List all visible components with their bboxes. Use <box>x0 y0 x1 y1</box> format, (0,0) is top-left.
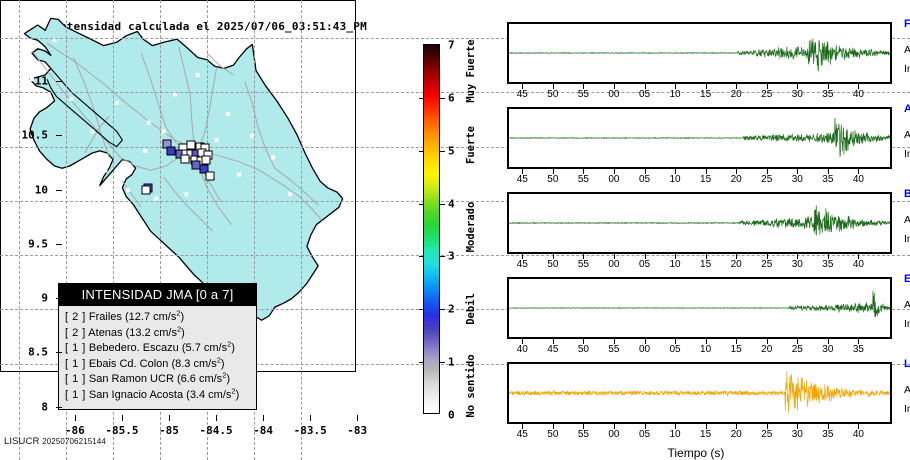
waveform-tick-label: 30 <box>792 429 803 440</box>
waveform-jma-intensity: Int JMA: 2 <box>904 63 910 75</box>
waveform-tick-label: 40 <box>853 429 864 440</box>
waveform-plot <box>507 277 892 339</box>
map-x-tick-label: -83 <box>347 424 367 437</box>
waveform-tick-label: 45 <box>517 429 528 440</box>
waveform-tick-label: 40 <box>853 259 864 270</box>
waveform-tick-label: 20 <box>761 344 772 355</box>
legend-station-name: Atenas <box>88 327 122 339</box>
legend-station-row: [ 1 ] San Ignacio Acosta (3.4 cm/s2) <box>65 388 256 404</box>
waveform-tick-label: 20 <box>731 89 742 100</box>
waveform-panel[interactable]: 455055000510152025303540FrailesAcel. Max… <box>507 22 892 84</box>
colorbar-category-label: Muy Fuerte <box>465 40 477 103</box>
legend-level: [ 1 ] <box>65 358 86 370</box>
waveform-tick-label: 55 <box>578 174 589 185</box>
colorbar-tick-mark <box>439 309 445 310</box>
waveform-panel[interactable]: 404550550005101520253035Ebais Cd. ColonA… <box>507 277 892 339</box>
map-x-tick-mark <box>122 415 123 421</box>
legend-accel: (3.4 cm/s2) <box>186 389 239 401</box>
map-y-tick-label: 8.5 <box>0 346 48 359</box>
footer-org: LISUCR <box>4 436 39 447</box>
map-x-tick-label: -84 <box>253 424 273 437</box>
map-x-tick-mark <box>357 415 358 421</box>
legend-station-name: San Ramon UCR <box>89 373 174 385</box>
colorbar-category-label: Moderado <box>465 202 477 253</box>
map-y-tick-label: 10.5 <box>0 129 48 142</box>
map-station-marker[interactable] <box>141 185 150 194</box>
waveform-tick-label: 30 <box>792 259 803 270</box>
waveform-tick-label: 15 <box>700 89 711 100</box>
map-x-tick-mark <box>216 415 217 421</box>
waveform-tick-label: 10 <box>669 259 680 270</box>
map-station-marker[interactable] <box>205 171 214 180</box>
colorbar-tick-mark-inner <box>419 204 424 205</box>
waveform-tick-label: 30 <box>792 174 803 185</box>
waveform-station-name[interactable]: Atenas <box>904 103 910 115</box>
waveform-tick-label: 00 <box>608 174 619 185</box>
legend-station-name: Frailes <box>89 311 122 323</box>
waveform-xaxis-label: Tiempo (s) <box>668 446 725 460</box>
map-x-tick-label: -85.5 <box>105 424 138 437</box>
waveform-jma-intensity: Int JMA: 1 <box>904 233 910 245</box>
map-station-marker[interactable] <box>202 156 211 165</box>
waveform-tick-label: 25 <box>761 259 772 270</box>
waveform-tick-label: 45 <box>547 344 558 355</box>
waveform-tick-label: 15 <box>700 259 711 270</box>
waveform-tick-label: 35 <box>822 429 833 440</box>
legend-level: [ 1 ] <box>65 373 86 385</box>
colorbar-tick-mark <box>439 362 445 363</box>
waveform-station-name[interactable]: Bebedero, Escazu <box>904 188 910 200</box>
map-y-tick-mark <box>56 407 62 408</box>
waveform-tick-label: 55 <box>578 89 589 100</box>
waveform-accel-max: Acel. Max. 1.5 <box>904 129 910 141</box>
colorbar-tick-mark <box>439 98 445 99</box>
colorbar-category-label: No sentido <box>465 354 477 417</box>
waveform-tick-label: 35 <box>822 174 833 185</box>
legend-accel: (8.3 cm/s2) <box>171 358 224 370</box>
waveform-tick-label: 20 <box>731 259 742 270</box>
waveform-tick-label: 30 <box>792 89 803 100</box>
map-y-tick-label: 9 <box>0 292 48 305</box>
waveform-tick-label: 45 <box>517 259 528 270</box>
waveform-jma-intensity: Int JMA: 1 <box>904 318 910 330</box>
waveform-tick-label: 05 <box>639 89 650 100</box>
legend-level: [ 2 ] <box>65 327 86 339</box>
legend-level: [ 1 ] <box>65 389 86 401</box>
map-gridline-horizontal <box>0 92 356 93</box>
legend-title: INTENSIDAD JMA [0 a 7] <box>59 284 256 306</box>
map-y-tick-mark <box>56 81 62 82</box>
waveform-plot <box>507 107 892 169</box>
waveform-plot <box>507 192 892 254</box>
legend-station-name: Bebedero. Escazu <box>89 342 179 354</box>
map-gridline-vertical <box>301 0 302 372</box>
waveform-tick-label: 00 <box>608 259 619 270</box>
waveform-tick-label: 30 <box>822 344 833 355</box>
waveform-tick-label: 00 <box>608 429 619 440</box>
waveform-tick-label: 35 <box>853 344 864 355</box>
colorbar-tick-mark-inner <box>419 309 424 310</box>
waveform-tick-label: 50 <box>578 344 589 355</box>
legend-station-name: San Ignacio Acosta <box>89 389 183 401</box>
waveform-tick-label: 50 <box>547 429 558 440</box>
waveform-tick-label: 15 <box>731 344 742 355</box>
map-station-marker[interactable] <box>180 154 189 163</box>
map-y-tick-label: 9.5 <box>0 237 48 250</box>
map-x-tick-mark <box>310 415 311 421</box>
waveform-accel-max: Acel. Max. 1.5 <box>904 44 910 56</box>
colorbar-tick-mark <box>439 151 445 152</box>
waveform-accel-max: Acel. Max. 1.3 <box>904 214 910 226</box>
map-y-tick-mark <box>56 244 62 245</box>
waveform-tick-label: 40 <box>853 174 864 185</box>
legend-station-row: [ 1 ] Bebedero. Escazu (5.7 cm/s2) <box>65 341 256 357</box>
waveform-tick-label: 45 <box>517 89 528 100</box>
map-y-tick-mark <box>56 352 62 353</box>
waveform-tick-label: 25 <box>792 344 803 355</box>
colorbar-tick-mark-inner <box>419 151 424 152</box>
waveform-tick-label: 55 <box>578 259 589 270</box>
intensity-colorbar: 01234567No sentidoDebilModeradoFuerteMuy… <box>423 44 440 414</box>
waveform-jma-intensity: Int JMA: 1 <box>904 403 910 415</box>
waveform-tick-label: 25 <box>761 89 772 100</box>
map-x-tick-mark <box>169 415 170 421</box>
waveform-tick-label: 05 <box>639 429 650 440</box>
waveform-tick-label: 25 <box>761 429 772 440</box>
map-y-tick-mark <box>56 190 62 191</box>
map-gridline-horizontal <box>0 201 356 202</box>
map-x-tick-label: -83.5 <box>294 424 327 437</box>
waveform-tick-label: 10 <box>700 344 711 355</box>
waveform-station-name[interactable]: Ebais Cd. Colon <box>904 273 910 285</box>
waveform-tick-label: 55 <box>578 429 589 440</box>
colorbar-tick-label: 4 <box>448 197 455 210</box>
colorbar-tick-label: 0 <box>448 409 455 422</box>
colorbar-tick-label: 2 <box>448 303 455 316</box>
waveform-panel[interactable]: 455055000510152025303540La SabanaAcel. M… <box>507 362 892 424</box>
map-y-tick-mark <box>56 135 62 136</box>
footer-timestamp: 20250706215144 <box>42 437 106 446</box>
colorbar-tick-label: 5 <box>448 144 455 157</box>
waveform-tick-label: 15 <box>700 174 711 185</box>
colorbar-tick-mark-inner <box>419 98 424 99</box>
map-y-tick-label: 11 <box>0 74 48 87</box>
colorbar-tick-label: 6 <box>448 91 455 104</box>
legend-station-name: Ebais Cd. Colon <box>89 358 169 370</box>
legend-box: INTENSIDAD JMA [0 a 7] [ 2 ] Frailes (12… <box>58 283 257 410</box>
map-y-tick-label: 8 <box>0 400 48 413</box>
waveform-tick-label: 35 <box>822 259 833 270</box>
legend-accel: (12.7 cm/s2) <box>125 311 184 323</box>
waveform-tick-label: 50 <box>547 259 558 270</box>
waveform-tick-label: 35 <box>822 89 833 100</box>
legend-accel: (13.2 cm/s2) <box>126 327 185 339</box>
waveform-tick-label: 20 <box>731 174 742 185</box>
colorbar-category-label: Debil <box>465 293 477 325</box>
waveform-tick-label: 40 <box>517 344 528 355</box>
waveform-tick-label: 10 <box>669 429 680 440</box>
colorbar-tick-label: 1 <box>448 356 455 369</box>
map-y-tick-label: 10 <box>0 183 48 196</box>
colorbar-tick-mark <box>439 204 445 205</box>
waveform-plot <box>507 22 892 84</box>
waveform-tick-label: 20 <box>731 429 742 440</box>
waveform-station-name[interactable]: Frailes <box>904 18 910 30</box>
colorbar-tick-mark-inner <box>419 256 424 257</box>
waveform-tick-label: 40 <box>853 89 864 100</box>
colorbar-tick-label: 3 <box>448 250 455 263</box>
colorbar-tick-label: 7 <box>448 39 455 52</box>
colorbar-tick-mark-inner <box>419 362 424 363</box>
waveform-tick-label: 05 <box>639 174 650 185</box>
waveform-tick-label: 45 <box>517 174 528 185</box>
waveform-tick-label: 10 <box>669 174 680 185</box>
waveform-tick-label: 10 <box>669 89 680 100</box>
map-x-tick-mark <box>75 415 76 421</box>
waveform-tick-label: 00 <box>639 344 650 355</box>
map-x-tick-label: -84.5 <box>199 424 232 437</box>
legend-station-row: [ 1 ] San Ramon UCR (6.6 cm/s2) <box>65 372 256 388</box>
waveform-tick-label: 05 <box>669 344 680 355</box>
waveform-panel[interactable]: 455055000510152025303540Bebedero, Escazu… <box>507 192 892 254</box>
legend-level: [ 2 ] <box>65 311 86 323</box>
map-x-tick-label: -85 <box>159 424 179 437</box>
waveform-tick-label: 05 <box>639 259 650 270</box>
waveform-jma-intensity: Int JMA: 2 <box>904 148 910 160</box>
map-x-tick-mark <box>263 415 264 421</box>
legend-list: [ 2 ] Frailes (12.7 cm/s2)[ 2 ] Atenas (… <box>59 306 256 409</box>
map-gridline-horizontal <box>0 255 356 256</box>
waveform-plot <box>507 362 892 424</box>
colorbar-category-label: Fuerte <box>465 126 477 164</box>
waveform-tick-label: 25 <box>761 174 772 185</box>
footer: LISUCR 20250706215144 <box>4 436 106 447</box>
map-gridline-horizontal <box>0 38 356 39</box>
waveform-accel-max: Acel. Max. 0.5 <box>904 384 910 396</box>
waveform-tick-label: 00 <box>608 89 619 100</box>
waveform-tick-label: 50 <box>547 89 558 100</box>
waveform-panel[interactable]: 455055000510152025303540AtenasAcel. Max.… <box>507 107 892 169</box>
legend-level: [ 1 ] <box>65 342 86 354</box>
legend-accel: (5.7 cm/s2) <box>182 342 235 354</box>
legend-station-row: [ 2 ] Frailes (12.7 cm/s2) <box>65 310 256 326</box>
waveform-station-name[interactable]: La Sabana <box>904 358 910 370</box>
legend-accel: (6.6 cm/s2) <box>177 373 230 385</box>
waveform-tick-label: 55 <box>608 344 619 355</box>
legend-station-row: [ 1 ] Ebais Cd. Colon (8.3 cm/s2) <box>65 357 256 373</box>
waveform-tick-label: 50 <box>547 174 558 185</box>
colorbar-tick-mark <box>439 256 445 257</box>
map-x-tick-label: -86 <box>65 424 85 437</box>
waveform-tick-label: 15 <box>700 429 711 440</box>
waveform-accel-max: Acel. Max. 1.2 <box>904 299 910 311</box>
map-y-tick-mark <box>56 298 62 299</box>
